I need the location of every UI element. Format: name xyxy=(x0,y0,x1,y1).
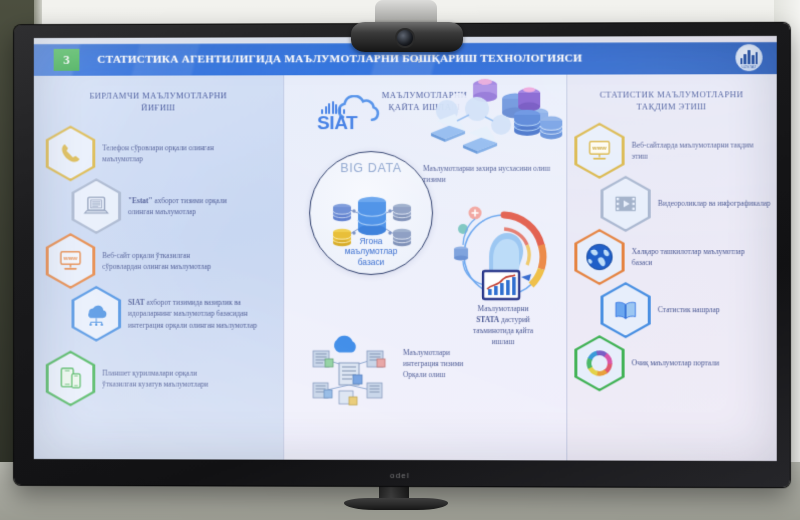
backup-servers-icon xyxy=(425,81,565,167)
organization-logo-icon: UZSTAT xyxy=(735,44,762,71)
webcam: Logi xyxy=(341,0,469,56)
hexagon-book xyxy=(600,282,650,338)
siat-logo: SIAT xyxy=(311,93,407,139)
list-item-website-publish[interactable]: www Веб-сайтларда маълумотларни тақдим э… xyxy=(574,122,757,178)
database-center-icon xyxy=(358,197,386,235)
list-item-label: SIAT ахборот тизимида вазирлик ва идорал… xyxy=(121,297,258,330)
list-item-label-bold: SIAT xyxy=(128,298,145,307)
database-node-1 xyxy=(333,204,351,221)
webcam-brand-label: Logi xyxy=(397,58,437,64)
hexagon-www-publish: www xyxy=(574,123,624,179)
column-collection-heading: БИРЛАМЧИ МАЪЛУМОТЛАРНИ ЙИҒИШ xyxy=(34,89,283,114)
hexagon-video xyxy=(600,176,650,232)
tablet-phone-icon xyxy=(57,366,85,392)
monitor: odel 3 СТАТИСТИКА АГЕНТИЛИГИДА МАЪЛУМОТЛ… xyxy=(14,23,790,487)
webcam-lens-icon xyxy=(395,28,415,48)
list-item-label: Статистик нашрлар xyxy=(651,305,720,316)
phone-icon xyxy=(58,140,84,166)
analytics-gauge-icon xyxy=(449,199,559,309)
list-item-website-survey[interactable]: www Веб-сайт орқали ўтказилган сўровлард… xyxy=(46,233,227,289)
hexagon-laptop xyxy=(71,178,121,234)
hexagon-open-data xyxy=(574,335,624,391)
caption-stata-bold: STATA xyxy=(476,315,499,324)
open-book-icon xyxy=(612,298,640,322)
list-item-phone-survey[interactable]: Телефон сўровлари орқали олинган маълумо… xyxy=(46,125,227,181)
caption-stata: Маълумотларни STATA дастурий таъминотида… xyxy=(443,303,563,348)
hexagon-phone xyxy=(46,126,96,182)
presentation-slide: 3 СТАТИСТИКА АГЕНТИЛИГИДА МАЪЛУМОТЛАРНИ … xyxy=(34,36,777,461)
monitor-bezel: odel 3 СТАТИСТИКА АГЕНТИЛИГИДА МАЪЛУМОТЛ… xyxy=(14,23,790,487)
caption-backup: Маълумотларни захира нусхасини олиш тизи… xyxy=(423,163,559,185)
hexagon-cloud xyxy=(71,286,121,342)
logo-bars xyxy=(740,49,758,64)
monitor-screen[interactable]: 3 СТАТИСТИКА АГЕНТИЛИГИДА МАЪЛУМОТЛАРНИ … xyxy=(34,36,777,461)
list-item-label-rest: ахборот тизимида вазирлик ва идораларнин… xyxy=(128,298,257,329)
database-node-2 xyxy=(393,204,411,221)
bigdata-caption: Ягона маълумотлар базаси xyxy=(310,235,432,267)
column-dissemination-heading: СТАТИСТИК МАЪЛУМОТЛАРНИ ТАҚДИМ ЭТИШ xyxy=(566,88,776,113)
slide-columns: БИРЛАМЧИ МАЪЛУМОТЛАРНИ ЙИҒИШ xyxy=(34,74,777,461)
list-item-label: Халқаро ташкилотлар маълумотлар базаси xyxy=(625,246,758,268)
caption-integration: Маълумотлари интеграция тизими Орқали ол… xyxy=(403,347,523,381)
svg-text:www: www xyxy=(592,146,607,152)
svg-text:www: www xyxy=(63,256,78,262)
video-play-icon xyxy=(612,193,640,215)
list-item-label: Очиқ маълумотлар портали xyxy=(625,358,720,369)
list-item-label: Веб-сайтларда маълумотларни тақдим этиш xyxy=(625,139,758,161)
list-item-video-infographics[interactable]: Видеороликлар ва инфографикалар xyxy=(600,176,770,232)
column-processing: МАЪЛУМОТЛАРНИ ҚАЙТА ИШЛАШ xyxy=(283,75,566,461)
www-monitor-icon: www xyxy=(585,139,613,163)
list-item-international-db[interactable]: Халқаро ташкилотлар маълумотлар базаси xyxy=(574,229,757,285)
cloud-network-icon xyxy=(81,301,111,327)
globe-icon xyxy=(584,242,614,272)
list-item-label-bold: "Estat" xyxy=(128,196,152,205)
open-data-icon xyxy=(584,348,614,378)
www-monitor-icon: www xyxy=(57,249,85,273)
monitor-brand-label: odel xyxy=(390,471,410,480)
list-item-label: Планшет қурилмалари орқали ўтказилган ку… xyxy=(95,367,226,389)
hexagon-tablet xyxy=(46,351,96,407)
list-item-label: "Estat" ахборот тизими орқали олинган ма… xyxy=(121,195,252,217)
bigdata-diagram: BIG DATA xyxy=(309,151,433,275)
list-item-label: Видеороликлар ва инфографикалар xyxy=(651,198,771,209)
hexagon-www: www xyxy=(46,233,96,289)
list-item-open-data-portal[interactable]: Очиқ маълумотлар портали xyxy=(574,335,719,391)
monitor-stand-base xyxy=(344,498,448,510)
list-item-label: Телефон сўровлари орқали олинган маълумо… xyxy=(95,142,226,164)
organization-logo-label: UZSTAT xyxy=(736,65,761,69)
list-item-label: Веб-сайт орқали ўтказилган сўровлардан о… xyxy=(95,250,226,272)
column-collection: БИРЛАМЧИ МАЪЛУМОТЛАРНИ ЙИҒИШ xyxy=(34,75,283,459)
list-item-tablet-observation[interactable]: Планшет қурилмалари орқали ўтказилган ку… xyxy=(46,351,227,407)
slide-number-badge: 3 xyxy=(54,49,80,71)
list-item-siat-integration[interactable]: SIAT ахборот тизимида вазирлик ва идорал… xyxy=(71,286,258,342)
hexagon-globe xyxy=(574,229,624,285)
laptop-icon xyxy=(82,194,110,218)
list-item-estat-system[interactable]: "Estat" ахборот тизими орқали олинган ма… xyxy=(71,178,252,234)
siat-logo-text: SIAT xyxy=(317,113,357,135)
column-dissemination: СТАТИСТИК МАЪЛУМОТЛАРНИ ТАҚДИМ ЭТИШ w xyxy=(566,74,776,461)
integration-network-icon xyxy=(305,333,401,407)
slide-title: СТАТИСТИКА АГЕНТИЛИГИДА МАЪЛУМОТЛАРНИ БО… xyxy=(97,53,582,66)
list-item-statistical-publications[interactable]: Статистик нашрлар xyxy=(600,282,719,338)
